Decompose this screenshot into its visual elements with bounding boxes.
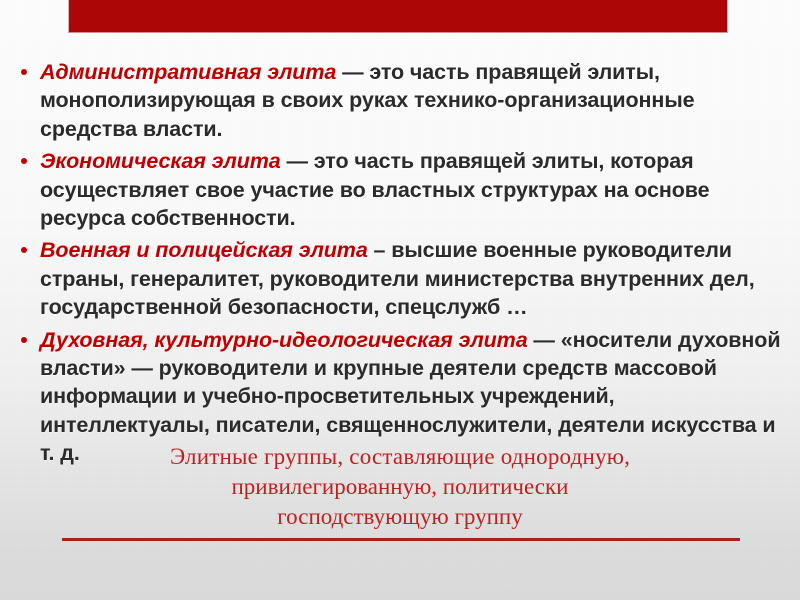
bullet-term: Экономическая элита [40, 149, 281, 173]
bullet-dot-icon [21, 337, 27, 343]
bullet-term: Духовная, культурно-идеологическая элита [40, 328, 528, 352]
horizontal-divider [62, 538, 740, 541]
bullet-dot-icon [21, 158, 27, 164]
bullet-term: Административная элита [40, 60, 336, 84]
slide-canvas: Административная элита — это часть правя… [0, 0, 800, 600]
bullet-term: Военная и полицейская элита [40, 238, 368, 262]
bullet-list: Административная элита — это часть правя… [14, 58, 786, 472]
bullet-dot-icon [21, 69, 27, 75]
bullet-dot-icon [21, 247, 27, 253]
list-item: Административная элита — это часть правя… [14, 58, 786, 143]
list-item: Духовная, культурно-идеологическая элита… [14, 326, 786, 468]
title-banner [68, 0, 728, 33]
list-item: Военная и полицейская элита – высшие вое… [14, 236, 786, 321]
caption-line-3: господствующую группу [60, 502, 740, 532]
caption-line-2: привилегированную, политически [60, 472, 740, 502]
list-item: Экономическая элита — это часть правящей… [14, 147, 786, 232]
